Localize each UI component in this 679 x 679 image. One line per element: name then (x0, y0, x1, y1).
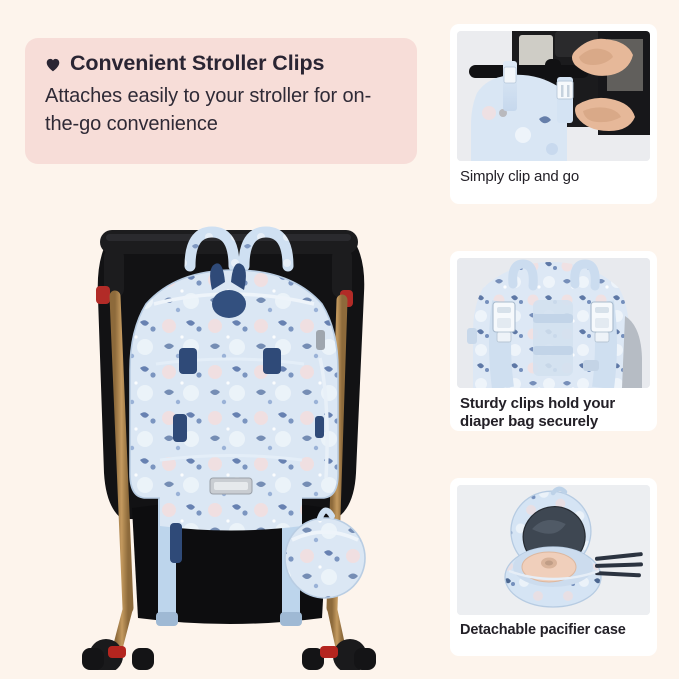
thumbnail-caption-simply-clip-and-go: Simply clip and go (457, 161, 650, 186)
thumbnail-image-detachable-pacifier-case (457, 485, 650, 615)
thumbnail-caption-sturdy-clips: Sturdy clips hold your diaper bag secure… (457, 388, 650, 431)
heart-icon (45, 57, 61, 73)
feature-title-row: Convenient Stroller Clips (45, 52, 395, 76)
sturdy-clips-illustration (457, 258, 650, 388)
thumbnail-image-simply-clip-and-go (457, 31, 650, 161)
thumbnail-card-detachable-pacifier-case[interactable]: Detachable pacifier case (450, 478, 657, 656)
feature-callout-card: Convenient Stroller Clips Attaches easil… (25, 38, 417, 164)
thumbnail-card-sturdy-clips[interactable]: Sturdy clips hold your diaper bag secure… (450, 251, 657, 431)
feature-description: Attaches easily to your stroller for on-… (45, 82, 395, 139)
hero-illustration (20, 178, 440, 670)
product-feature-page: Convenient Stroller Clips Attaches easil… (0, 0, 679, 679)
pacifier-case-illustration (457, 485, 650, 615)
left-column: Convenient Stroller Clips Attaches easil… (0, 0, 440, 679)
hero-product-image (20, 178, 440, 670)
thumbnail-image-sturdy-clips (457, 258, 650, 388)
clip-and-go-illustration (457, 31, 650, 161)
feature-title: Convenient Stroller Clips (70, 52, 324, 76)
thumbnail-caption-detachable-pacifier-case: Detachable pacifier case (457, 615, 650, 639)
thumbnail-card-simply-clip-and-go[interactable]: Simply clip and go (450, 24, 657, 204)
